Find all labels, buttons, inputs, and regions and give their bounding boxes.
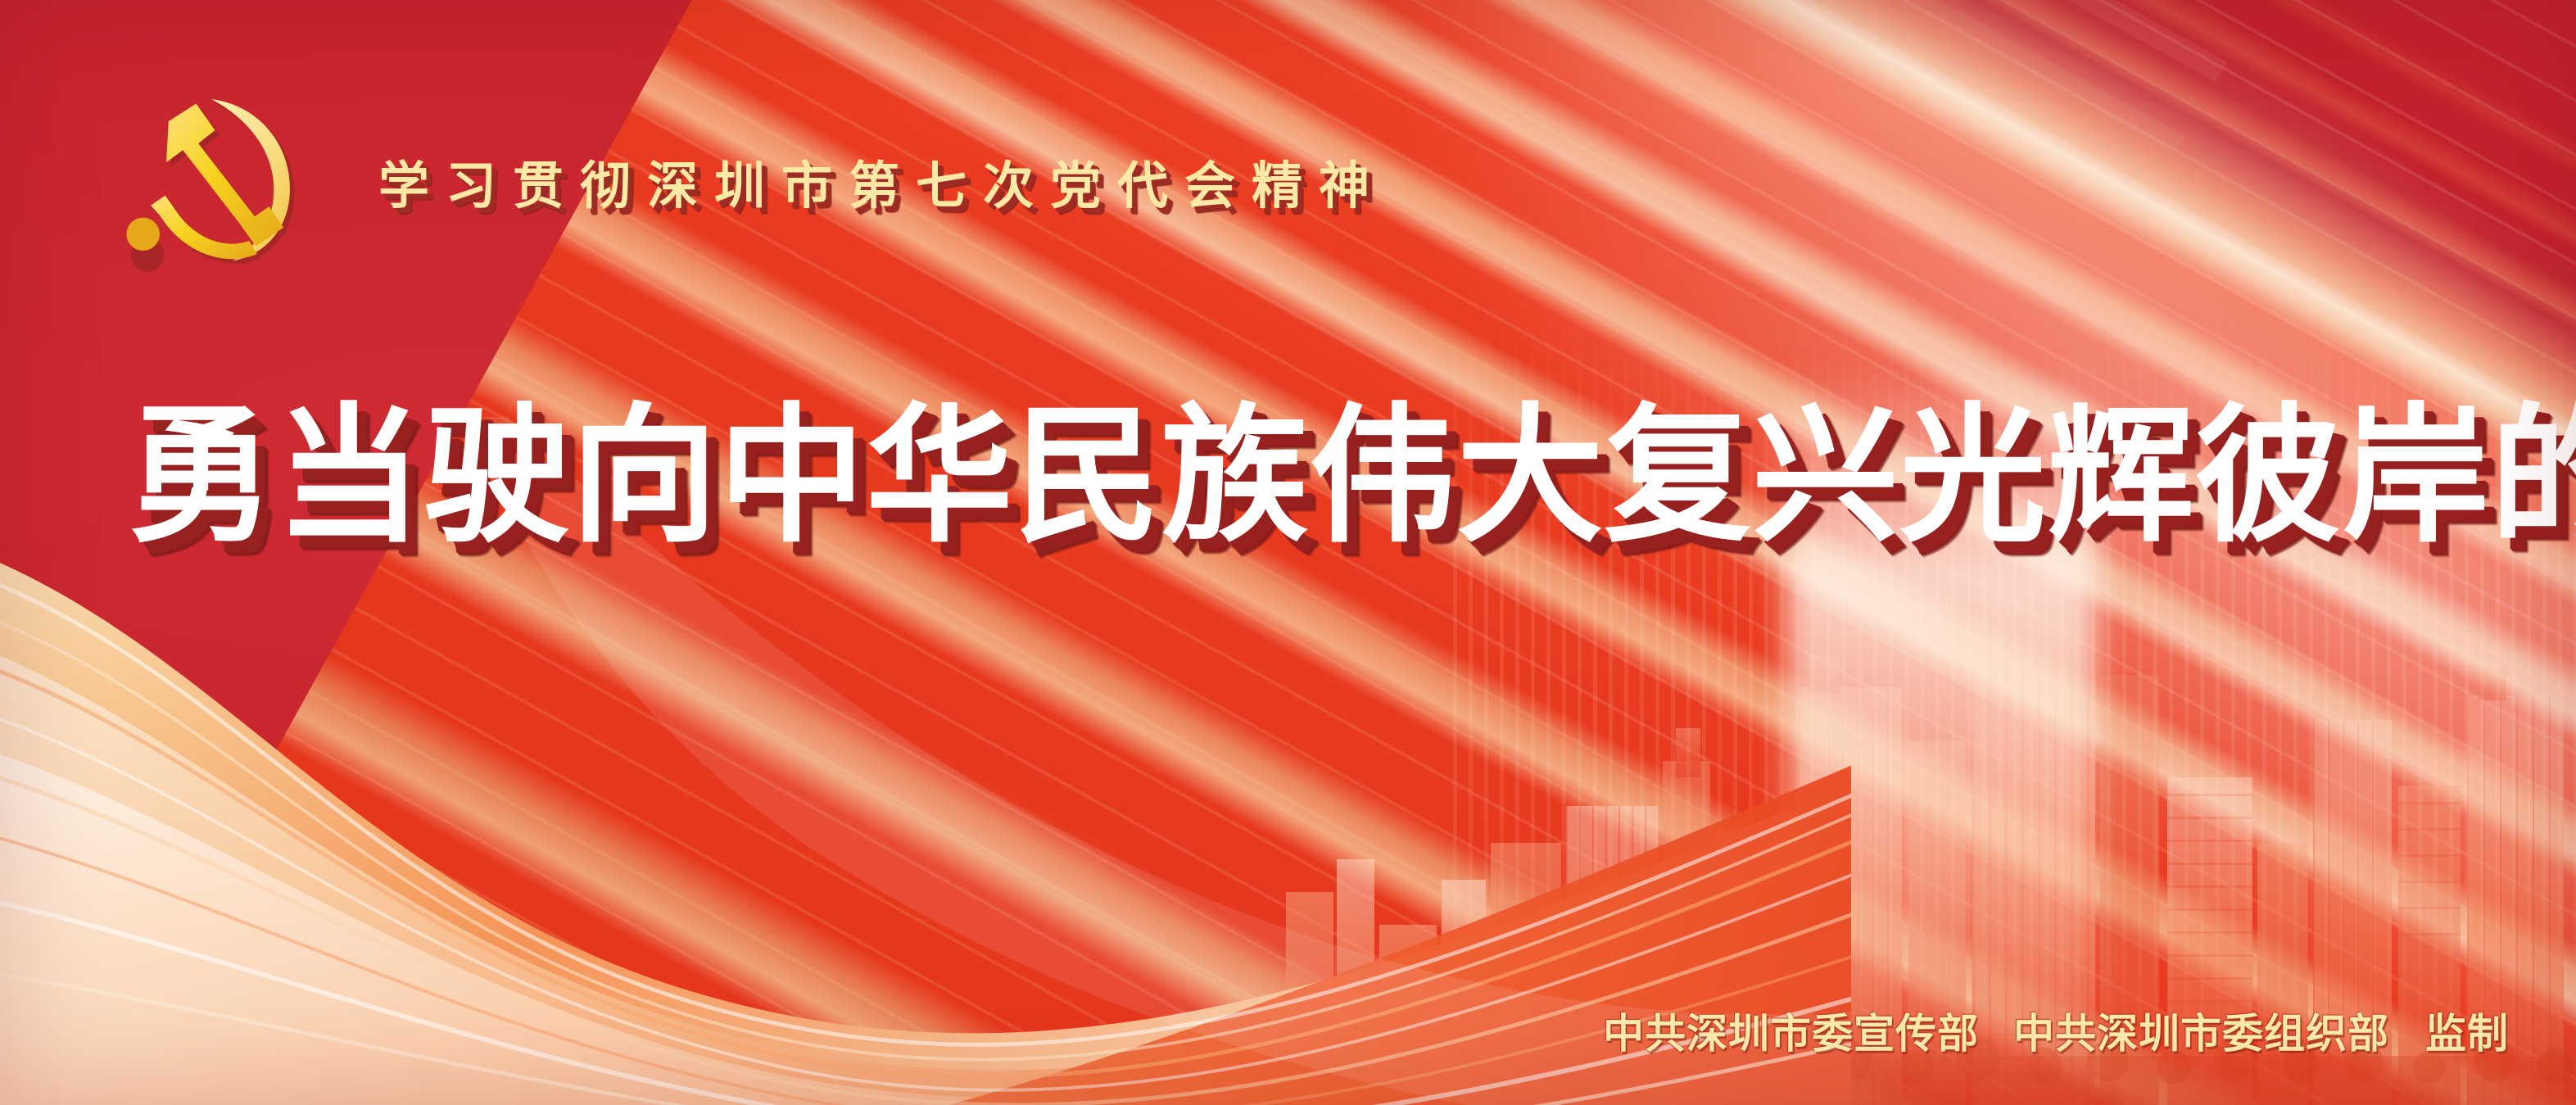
hammer-and-sickle-icon: [97, 67, 318, 288]
poster-canvas: 学习贯彻深圳市第七次党代会精神 勇当驶向中华民族伟大复兴光辉彼岸的第一艘“冲锋舟…: [0, 0, 2576, 1105]
poster-headline-text: 勇当驶向中华民族伟大复兴光辉彼岸的第一艘“冲锋舟”: [128, 401, 2452, 550]
credit-role-supervised: 监制: [2425, 1010, 2509, 1057]
poster-kicker-text: 学习贯彻深圳市第七次党代会精神: [378, 144, 1386, 218]
credit-org-organization: 中共深圳市委组织部: [2013, 1010, 2389, 1057]
credit-org-publicity: 中共深圳市委宣传部: [1603, 1010, 1979, 1057]
poster-credits: 中共深圳市委宣传部中共深圳市委组织部监制: [1603, 1001, 2509, 1060]
